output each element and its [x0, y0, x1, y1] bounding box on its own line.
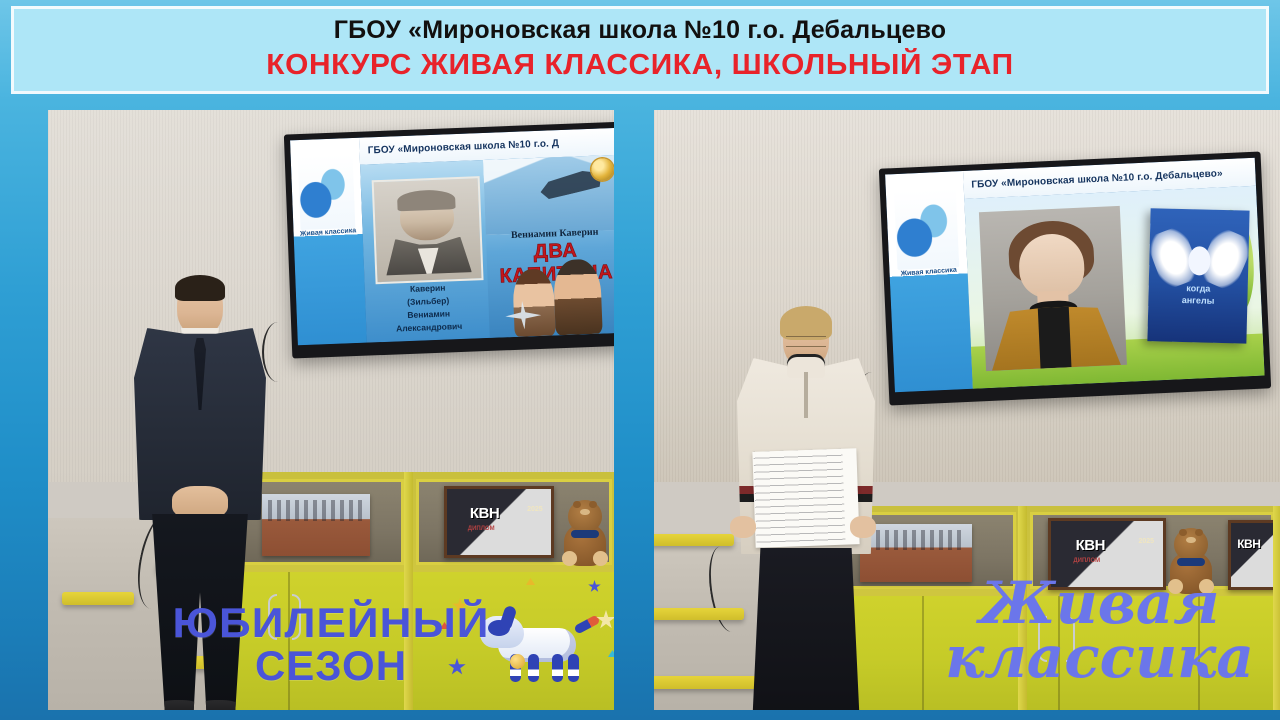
bear-muzzle [1186, 537, 1196, 544]
bear-ear [573, 501, 581, 508]
slide-body-right: когда ангелы [964, 186, 1265, 389]
slide-logo-strip: Живая классика [290, 138, 367, 346]
kvn-year: 2025 [527, 506, 543, 513]
door-seam [922, 596, 924, 710]
slide-body-left: Каверин (Зильбер) Вениамин Александрович… [360, 154, 614, 342]
girl-glasses [786, 336, 826, 347]
book-cover-characters [495, 255, 614, 338]
kvn-subtitle: ДИПЛОМ [1073, 558, 1100, 564]
poster-canvas: ГБОУ «Мироновская школа №10 г.о. Дебальц… [0, 0, 1280, 720]
kvn-subtitle: ДИПЛОМ [468, 526, 495, 532]
classroom-scene-right: Живая классика ГБОУ «Мироновская школа №… [654, 110, 1280, 710]
bear-muzzle [580, 509, 590, 516]
portrait-hair [397, 189, 456, 211]
robot-dog-mascot [480, 602, 600, 688]
author-name-caption: Каверин (Зильбер) Вениамин Александрович [373, 280, 484, 337]
school-name: ГБОУ «Мироновская школа №10 г.о. Дебальц… [14, 15, 1266, 46]
bear-ear [589, 501, 597, 508]
kvn-title: КВН [470, 505, 499, 522]
book-cover-two-captains: Вениамин Каверин ДВА КАПИТАНА [483, 154, 614, 338]
bear-ear [1179, 529, 1187, 536]
mascot-medal-icon [510, 654, 525, 669]
boy-boot [154, 700, 206, 710]
author-cardigan [989, 304, 1121, 370]
zhivaya-klassika-logo-icon [894, 189, 960, 270]
teddy-bear [556, 500, 614, 566]
blue-book-cover: когда ангелы [1147, 208, 1250, 343]
bear-bow [1177, 558, 1205, 566]
photo-left: Живая классика ГБОУ «Мироновская школа №… [48, 110, 614, 710]
boy-hair [175, 275, 225, 301]
character-pilot [553, 258, 602, 335]
girl-skirt [746, 548, 866, 710]
character-woman [512, 268, 556, 337]
kvn-diploma: КВН 2025 ДИПЛОМ [444, 486, 554, 558]
tv-slide-right: Живая классика ГБОУ «Мироновская школа №… [885, 158, 1265, 393]
bear-paw [593, 551, 608, 566]
mascot-leg [552, 654, 563, 682]
book-title-right: когда ангелы [1148, 283, 1248, 308]
girl-hand [850, 516, 876, 538]
mascot-ear [499, 605, 518, 632]
event-title: КОНКУРС ЖИВАЯ КЛАССИКА, ШКОЛЬНЫЙ ЭТАП [14, 48, 1266, 83]
bear-paw [562, 551, 577, 566]
watermark-zhivaya-klassika: Живая классика [945, 577, 1254, 684]
tv-screen-right: Живая классика ГБОУ «Мироновская школа №… [879, 151, 1271, 405]
bear-ear [1195, 529, 1203, 536]
watermark-jubilee-season: ЮБИЛЕЙНЫЙ СЕЗОН [180, 603, 482, 686]
student-girl [716, 310, 896, 710]
slide-logo-strip: Живая классика [885, 171, 972, 392]
kvn-title: КВН [1076, 537, 1105, 554]
tv-screen-left: Живая классика ГБОУ «Мироновская школа №… [284, 122, 614, 359]
kvn-title: КВН [1237, 537, 1260, 551]
kvn-year: 2025 [1138, 538, 1154, 545]
poster-header: ГБОУ «Мироновская школа №10 г.о. Дебальц… [14, 9, 1266, 91]
author-face [1018, 233, 1085, 300]
watermark-line-1: ЮБИЛЕЙНЫЙ [172, 603, 489, 643]
author-portrait [371, 176, 483, 284]
girl-hand [730, 516, 756, 538]
zhivaya-klassika-logo-icon [298, 154, 356, 230]
book-title-line: ангелы [1148, 294, 1248, 308]
watermark-line-2: СЕЗОН [180, 646, 482, 686]
girl-hair [780, 306, 832, 340]
bear-bow [571, 530, 599, 538]
girl-zipper [804, 372, 808, 418]
boy-boot [194, 700, 246, 710]
cabinet-divider [1273, 506, 1280, 710]
bear-head [568, 500, 603, 533]
mascot-tail [573, 614, 600, 634]
watermark-line-2: классика [945, 631, 1254, 684]
caption-line: Александрович [374, 320, 484, 337]
bear-head [1174, 528, 1209, 561]
mascot-leg [568, 654, 579, 682]
reading-sheet [752, 448, 859, 548]
kvn-diploma-inner: КВН 2025 ДИПЛОМ [447, 489, 551, 555]
tv-slide-left: Живая классика ГБОУ «Мироновская школа №… [290, 128, 614, 346]
mascot-leg [528, 654, 539, 682]
author-photo [979, 206, 1126, 372]
photo-right: Живая классика ГБОУ «Мироновская школа №… [654, 110, 1280, 710]
classroom-scene-left: Живая классика ГБОУ «Мироновская школа №… [48, 110, 614, 710]
